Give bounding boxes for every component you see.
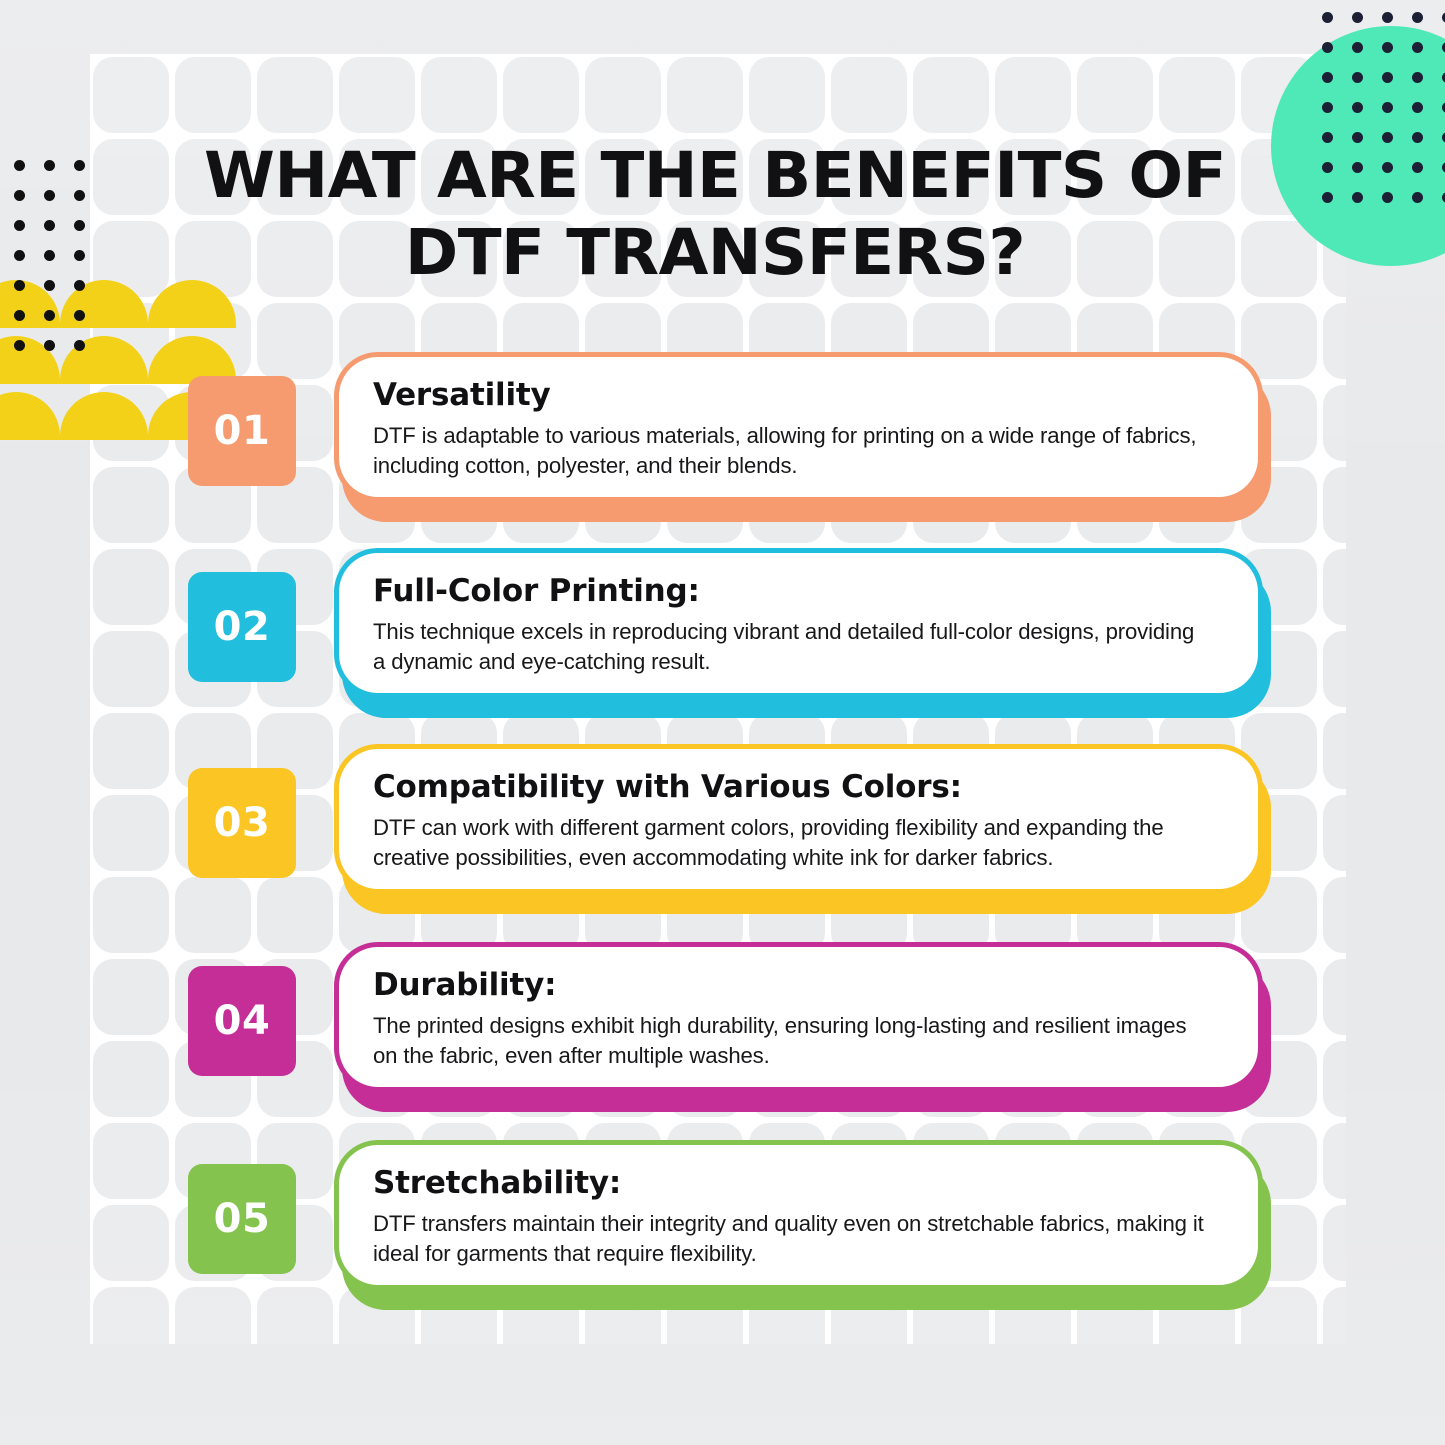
benefit-card-wrapper: Durability:The printed designs exhibit h… (334, 942, 1263, 1092)
benefit-row: 01VersatilityDTF is adaptable to various… (188, 352, 1263, 520)
yellow-halfmoon (0, 392, 60, 440)
decorative-dot (1382, 72, 1393, 83)
benefit-number: 05 (214, 1196, 271, 1242)
grid-tile (1323, 549, 1346, 625)
grid-tile (1323, 303, 1346, 379)
benefit-title: Stretchability: (373, 1165, 1224, 1202)
grid-tile (93, 1041, 169, 1117)
decorative-dot (44, 280, 55, 291)
decorative-dot (74, 220, 85, 231)
benefit-number-badge: 03 (188, 768, 296, 878)
decorative-dot (1322, 192, 1333, 203)
decorative-dot (1382, 42, 1393, 53)
decorative-dot (74, 280, 85, 291)
benefit-description: DTF can work with different garment colo… (373, 813, 1211, 873)
benefit-row: 02Full-Color Printing:This technique exc… (188, 548, 1263, 716)
decorative-dot (44, 340, 55, 351)
benefit-number-badge: 01 (188, 376, 296, 486)
decorative-dot (74, 340, 85, 351)
benefit-number: 01 (214, 408, 271, 454)
benefit-row: 05Stretchability:DTF transfers maintain … (188, 1140, 1263, 1308)
benefit-card[interactable]: Full-Color Printing:This technique excel… (334, 548, 1263, 698)
benefit-number-badge: 04 (188, 966, 296, 1076)
decorative-dot (1352, 12, 1363, 23)
grid-tile (93, 1123, 169, 1199)
decorative-dot (1412, 192, 1423, 203)
decorative-dot (1352, 162, 1363, 173)
grid-tile (93, 959, 169, 1035)
grid-tile (257, 57, 333, 133)
grid-tile (93, 549, 169, 625)
grid-tile (93, 795, 169, 871)
grid-tile (1077, 57, 1153, 133)
decorative-dot (1322, 12, 1333, 23)
benefit-card[interactable]: Stretchability:DTF transfers maintain th… (334, 1140, 1263, 1290)
grid-tile (93, 467, 169, 543)
decorative-dot (1322, 102, 1333, 113)
benefit-description: DTF transfers maintain their integrity a… (373, 1209, 1211, 1269)
decorative-dot (1412, 12, 1423, 23)
benefit-title: Durability: (373, 967, 1224, 1004)
benefit-description: The printed designs exhibit high durabil… (373, 1011, 1211, 1071)
decorative-dot (1412, 132, 1423, 143)
grid-tile (503, 57, 579, 133)
grid-tile (1323, 1205, 1346, 1281)
grid-tile (175, 57, 251, 133)
grid-tile (831, 57, 907, 133)
decorative-dot (14, 310, 25, 321)
grid-tile (1323, 1123, 1346, 1199)
decorative-dot (1412, 42, 1423, 53)
grid-tile (93, 1287, 169, 1344)
decorative-dot (44, 220, 55, 231)
grid-tile (1323, 795, 1346, 871)
grid-tile (1323, 877, 1346, 953)
grid-tile (1323, 959, 1346, 1035)
benefit-number-badge: 05 (188, 1164, 296, 1274)
decorative-dot (74, 190, 85, 201)
benefit-card[interactable]: Compatibility with Various Colors:DTF ca… (334, 744, 1263, 894)
benefit-number: 03 (214, 800, 271, 846)
grid-tile (749, 57, 825, 133)
grid-tile (93, 1205, 169, 1281)
page-title: WHAT ARE THE BENEFITS OF DTF TRANSFERS? (159, 138, 1271, 292)
grid-tile (1323, 1287, 1346, 1344)
grid-tile (339, 57, 415, 133)
grid-tile (1323, 631, 1346, 707)
grid-tile (1323, 1041, 1346, 1117)
grid-tile (421, 57, 497, 133)
grid-tile (93, 713, 169, 789)
grid-tile (1159, 57, 1235, 133)
grid-tile (1323, 467, 1346, 543)
benefit-row: 03Compatibility with Various Colors:DTF … (188, 744, 1263, 912)
grid-tile (93, 57, 169, 133)
decorative-dot (1322, 162, 1333, 173)
decorative-dot (74, 250, 85, 261)
grid-tile (995, 57, 1071, 133)
benefit-card-wrapper: Compatibility with Various Colors:DTF ca… (334, 744, 1263, 894)
decorative-dot (14, 220, 25, 231)
benefit-card-wrapper: VersatilityDTF is adaptable to various m… (334, 352, 1263, 502)
decorative-dot (1352, 192, 1363, 203)
decorative-dot (1322, 72, 1333, 83)
benefit-card[interactable]: Durability:The printed designs exhibit h… (334, 942, 1263, 1092)
decorative-dot (14, 340, 25, 351)
benefit-number: 04 (214, 998, 271, 1044)
decorative-dot (1322, 42, 1333, 53)
decorative-dot (14, 160, 25, 171)
benefit-title: Full-Color Printing: (373, 573, 1224, 610)
benefit-number: 02 (214, 604, 271, 650)
benefit-description: This technique excels in reproducing vib… (373, 617, 1211, 677)
grid-tile (1323, 713, 1346, 789)
decorative-dot (14, 250, 25, 261)
decorative-dot (74, 310, 85, 321)
grid-tile (913, 57, 989, 133)
decorative-dot (1352, 42, 1363, 53)
benefit-row: 04Durability:The printed designs exhibit… (188, 942, 1263, 1110)
decorative-dot (1382, 162, 1393, 173)
decorative-dot (44, 160, 55, 171)
benefit-card-wrapper: Stretchability:DTF transfers maintain th… (334, 1140, 1263, 1290)
decorative-dot (1382, 192, 1393, 203)
decorative-dot (44, 250, 55, 261)
decorative-dot (1412, 102, 1423, 113)
grid-tile (93, 631, 169, 707)
infographic-canvas: WHAT ARE THE BENEFITS OF DTF TRANSFERS? … (0, 0, 1445, 1445)
decorative-dot (1412, 72, 1423, 83)
benefit-title: Versatility (373, 377, 1224, 414)
decorative-dot (1352, 72, 1363, 83)
decorative-dot (1382, 12, 1393, 23)
benefit-card-wrapper: Full-Color Printing:This technique excel… (334, 548, 1263, 698)
benefit-card[interactable]: VersatilityDTF is adaptable to various m… (334, 352, 1263, 502)
grid-tile (1323, 385, 1346, 461)
benefit-title: Compatibility with Various Colors: (373, 769, 1224, 806)
decorative-dot (44, 310, 55, 321)
decorative-dot (44, 190, 55, 201)
decorative-dot (1382, 102, 1393, 113)
decorative-dot (1352, 132, 1363, 143)
decorative-dot (1382, 132, 1393, 143)
grid-tile (667, 57, 743, 133)
benefit-description: DTF is adaptable to various materials, a… (373, 421, 1211, 481)
decorative-dot (1352, 102, 1363, 113)
decorative-dot (1322, 132, 1333, 143)
grid-tile (93, 877, 169, 953)
decorative-dot (14, 280, 25, 291)
benefit-number-badge: 02 (188, 572, 296, 682)
decorative-dot (74, 160, 85, 171)
grid-tile (93, 139, 169, 215)
decorative-dot (14, 190, 25, 201)
grid-tile (585, 57, 661, 133)
decorative-dot (1412, 162, 1423, 173)
